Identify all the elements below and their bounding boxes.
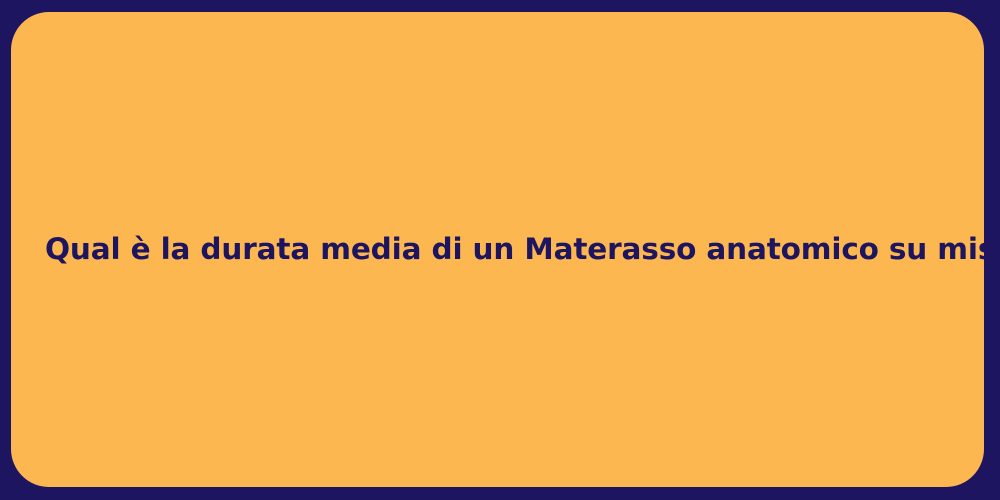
question-card: Qual è la durata media di un Materasso a… xyxy=(11,12,984,487)
page-frame: Qual è la durata media di un Materasso a… xyxy=(0,0,1000,500)
question-heading: Qual è la durata media di un Materasso a… xyxy=(11,231,1000,268)
